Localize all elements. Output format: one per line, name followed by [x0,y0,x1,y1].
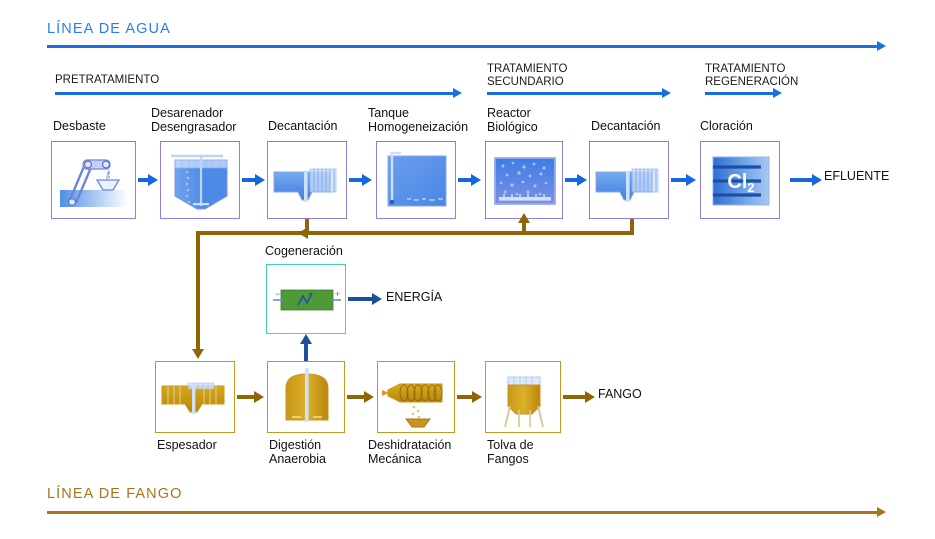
stage-arrow-secundario-icon [662,88,671,98]
connector-arrow-biogas-icon [300,334,312,344]
wastewater-treatment-diagram: LÍNEA DE AGUA PRETRATAMIENTO TRATAMIENTO… [0,0,935,539]
unit-label-desarenador: Desarenador Desengrasador [151,107,236,134]
connector-cloracion-to-efluente [790,178,814,182]
connector-cogeneracion-to-energia [348,297,374,301]
connector-deshidratacion-to-tolva [457,395,473,399]
connector-tolva-to-fango [563,395,587,399]
water-line-rule [47,45,877,48]
connector-arrow-1-icon [148,174,158,186]
output-label-fango: FANGO [598,387,642,401]
stage-label-pretratamiento: PRETRATAMIENTO [55,74,159,87]
process-box-decantacion-secundaria[interactable] [589,141,669,219]
unit-label-tanque-homogeneizacion: Tanque Homogeneización [368,107,468,134]
process-box-cogeneracion[interactable]: − + [266,264,346,334]
unit-label-cogeneracion: Cogeneración [265,245,343,259]
anaerobic-digester-icon [268,362,346,434]
unit-label-desbaste: Desbaste [53,120,106,134]
unit-label-reactor-biologico: Reactor Biológico [487,107,538,134]
process-box-decantacion-primaria[interactable] [267,141,347,219]
svg-text:+: + [335,289,340,299]
unit-label-digestion-anaerobia: Digestión Anaerobia [269,439,326,466]
stage-label-secundario: TRATAMIENTO SECUNDARIO [487,63,568,88]
connector-arrow-s3-icon [472,391,482,403]
screw-press-icon [378,362,456,434]
sludge-line-rule-arrow-icon [877,507,886,517]
connector-arrow-4-icon [471,174,481,186]
connector-arrow-3-icon [362,174,372,186]
sludge-drop-to-espesador [196,231,200,350]
thickener-icon [156,362,236,434]
unit-label-decantacion-2: Decantación [591,120,661,134]
connector-arrow-fango-icon [585,391,595,403]
chlorination-icon: Cl2 [701,142,781,220]
sludge-return-arrow-icon [518,213,530,223]
unit-label-cloracion: Cloración [700,120,753,134]
water-line-title: LÍNEA DE AGUA [47,21,171,37]
process-box-reactor-biologico[interactable] [485,141,563,219]
sludge-arrow-espesador-icon [192,349,204,359]
connector-arrow-s1-icon [254,391,264,403]
connector-arrow-5-icon [577,174,587,186]
sludge-return-riser [522,222,526,235]
water-line-rule-arrow-icon [877,41,886,51]
stage-arrow-regeneracion-icon [773,88,782,98]
process-box-espesador[interactable] [155,361,235,433]
process-box-digestion-anaerobia[interactable] [267,361,345,433]
sludge-line-title: LÍNEA DE FANGO [47,486,182,502]
output-label-energia: ENERGÍA [386,290,442,304]
aeration-basin-icon [486,142,564,220]
sludge-drop-decantacion-secundaria [630,219,634,235]
sludge-hopper-icon [486,362,562,434]
grit-grease-chamber-icon [161,142,241,220]
stage-arrow-pretratamiento-icon [453,88,462,98]
process-box-tolva-de-fangos[interactable] [485,361,561,433]
sludge-line-rule [47,511,877,514]
unit-label-decantacion-1: Decantación [268,120,338,134]
output-label-efluente: EFLUENTE [824,169,889,183]
connector-digestion-to-deshidratacion [347,395,365,399]
connector-arrow-6-icon [686,174,696,186]
connector-arrow-s2-icon [364,391,374,403]
connector-arrow-efluente-icon [812,174,822,186]
stage-bar-pretratamiento [55,92,453,95]
connector-arrow-2-icon [255,174,265,186]
process-box-deshidratacion-mecanica[interactable] [377,361,455,433]
equalization-tank-icon [377,142,457,220]
screening-rake-icon [52,142,137,220]
stage-bar-regeneracion [705,92,773,95]
stage-label-regeneracion: TRATAMIENTO REGENERACIÓN [705,63,798,88]
process-box-desarenador-desengrasador[interactable] [160,141,240,219]
secondary-clarifier-icon [590,142,670,220]
process-box-desbaste[interactable] [51,141,136,219]
connector-espesador-to-digestion [237,395,255,399]
connector-arrow-energia-icon [372,293,382,305]
sludge-junction-arrow-icon [298,227,308,239]
stage-bar-secundario [487,92,662,95]
primary-clarifier-icon [268,142,348,220]
sludge-collector-line [196,231,634,235]
process-box-cloracion[interactable]: Cl2 [700,141,780,219]
unit-label-deshidratacion-mecanica: Deshidratación Mecánica [368,439,451,466]
generator-icon: − + [267,265,347,335]
process-box-tanque-homogeneizacion[interactable] [376,141,456,219]
unit-label-espesador: Espesador [157,439,217,453]
unit-label-tolva-de-fangos: Tolva de Fangos [487,439,534,466]
svg-text:−: − [275,289,280,299]
